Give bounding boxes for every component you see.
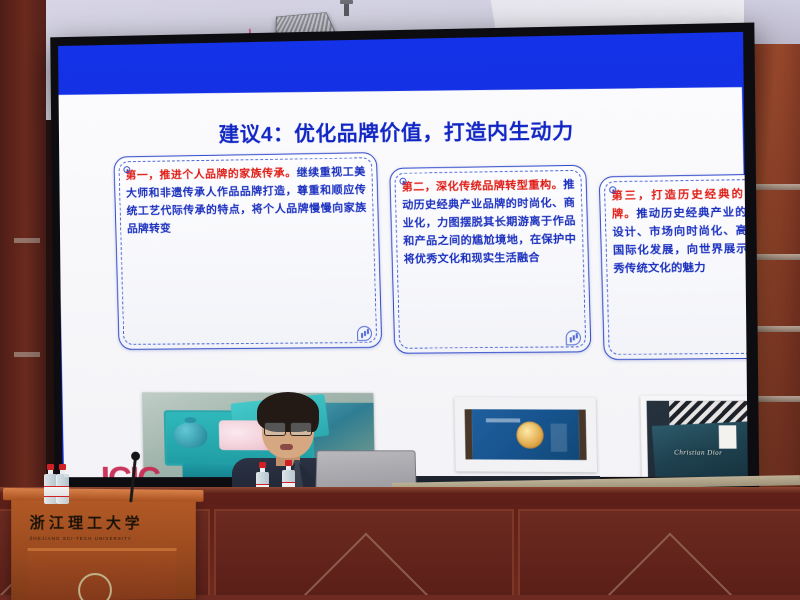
icic-watermark-logo: ICIC [101,460,160,477]
signal-bars-icon [566,330,582,345]
text-box-second-lead: 第二，深化传统品牌转型重构。 [402,179,564,194]
slide-title: 建议4：优化品牌价值，打造内生动力 [218,115,574,148]
decorative-dot-icon [609,186,616,193]
text-box-first: 第一，推进个人品牌的家族传承。继续重视工美大师和非遗传承人作品品牌打造，尊重和顺… [113,152,382,350]
conference-room-photo: 中华人民共和国工业和信息化部 Ministry of Industry and … [0,0,800,600]
podium-nameplate: 浙江理工大学 ZHEJIANG SCI-TECH UNIVERSITY [30,512,179,542]
decorative-dot-icon [123,166,130,173]
photo-dior-handbag: Christian Dior [640,396,747,478]
university-name-en: ZHEJIANG SCI-TECH UNIVERSITY [30,536,179,541]
gold-medallion-icon [516,421,544,448]
university-name-cn: 浙江理工大学 [30,512,179,534]
podium-lectern: 浙江理工大学 ZHEJIANG SCI-TECH UNIVERSITY [11,497,196,600]
text-box-first-paragraph: 第一，推进个人品牌的家族传承。继续重视工美大师和非遗传承人作品品牌打造，尊重和顺… [125,164,367,239]
water-bottle [56,464,69,504]
text-box-third: 第三，打造历史经典的高端品牌。推动历史经典产业的工艺、设计、市场向时尚化、高端化… [599,173,748,360]
text-box-first-lead: 第一，推进个人品牌的家族传承。 [125,167,296,182]
signal-bars-icon [357,326,372,341]
brand-text: Christian Dior [674,448,722,456]
glasses-icon [262,422,314,435]
led-display-screen: 中华人民共和国工业和信息化部 Ministry of Industry and … [50,23,759,491]
text-box-third-paragraph: 第三，打造历史经典的高端品牌。推动历史经典产业的工艺、设计、市场向时尚化、高端化… [611,186,748,279]
recommendation-boxes: 第一，推进个人品牌的家族传承。继续重视工美大师和非遗传承人作品品牌打造，尊重和顺… [58,150,748,384]
screen-surface: 中华人民共和国工业和信息化部 Ministry of Industry and … [58,32,748,477]
sprinkler-icon [344,2,349,16]
text-box-second: 第二，深化传统品牌转型重构。推动历史经典产业品牌的时尚化、商业化，力图摆脱其长期… [389,165,591,354]
text-box-second-paragraph: 第二，深化传统品牌转型重构。推动历史经典产业品牌的时尚化、商业化，力图摆脱其长期… [401,177,576,270]
photo-blue-gift-box [454,397,597,472]
university-seal-icon [78,573,112,600]
presentation-slide: 建议4：优化品牌价值，打造内生动力 第一，推进个人品牌的家族传承。继续重视工美大… [58,87,748,477]
decorative-dot-icon [399,178,406,185]
